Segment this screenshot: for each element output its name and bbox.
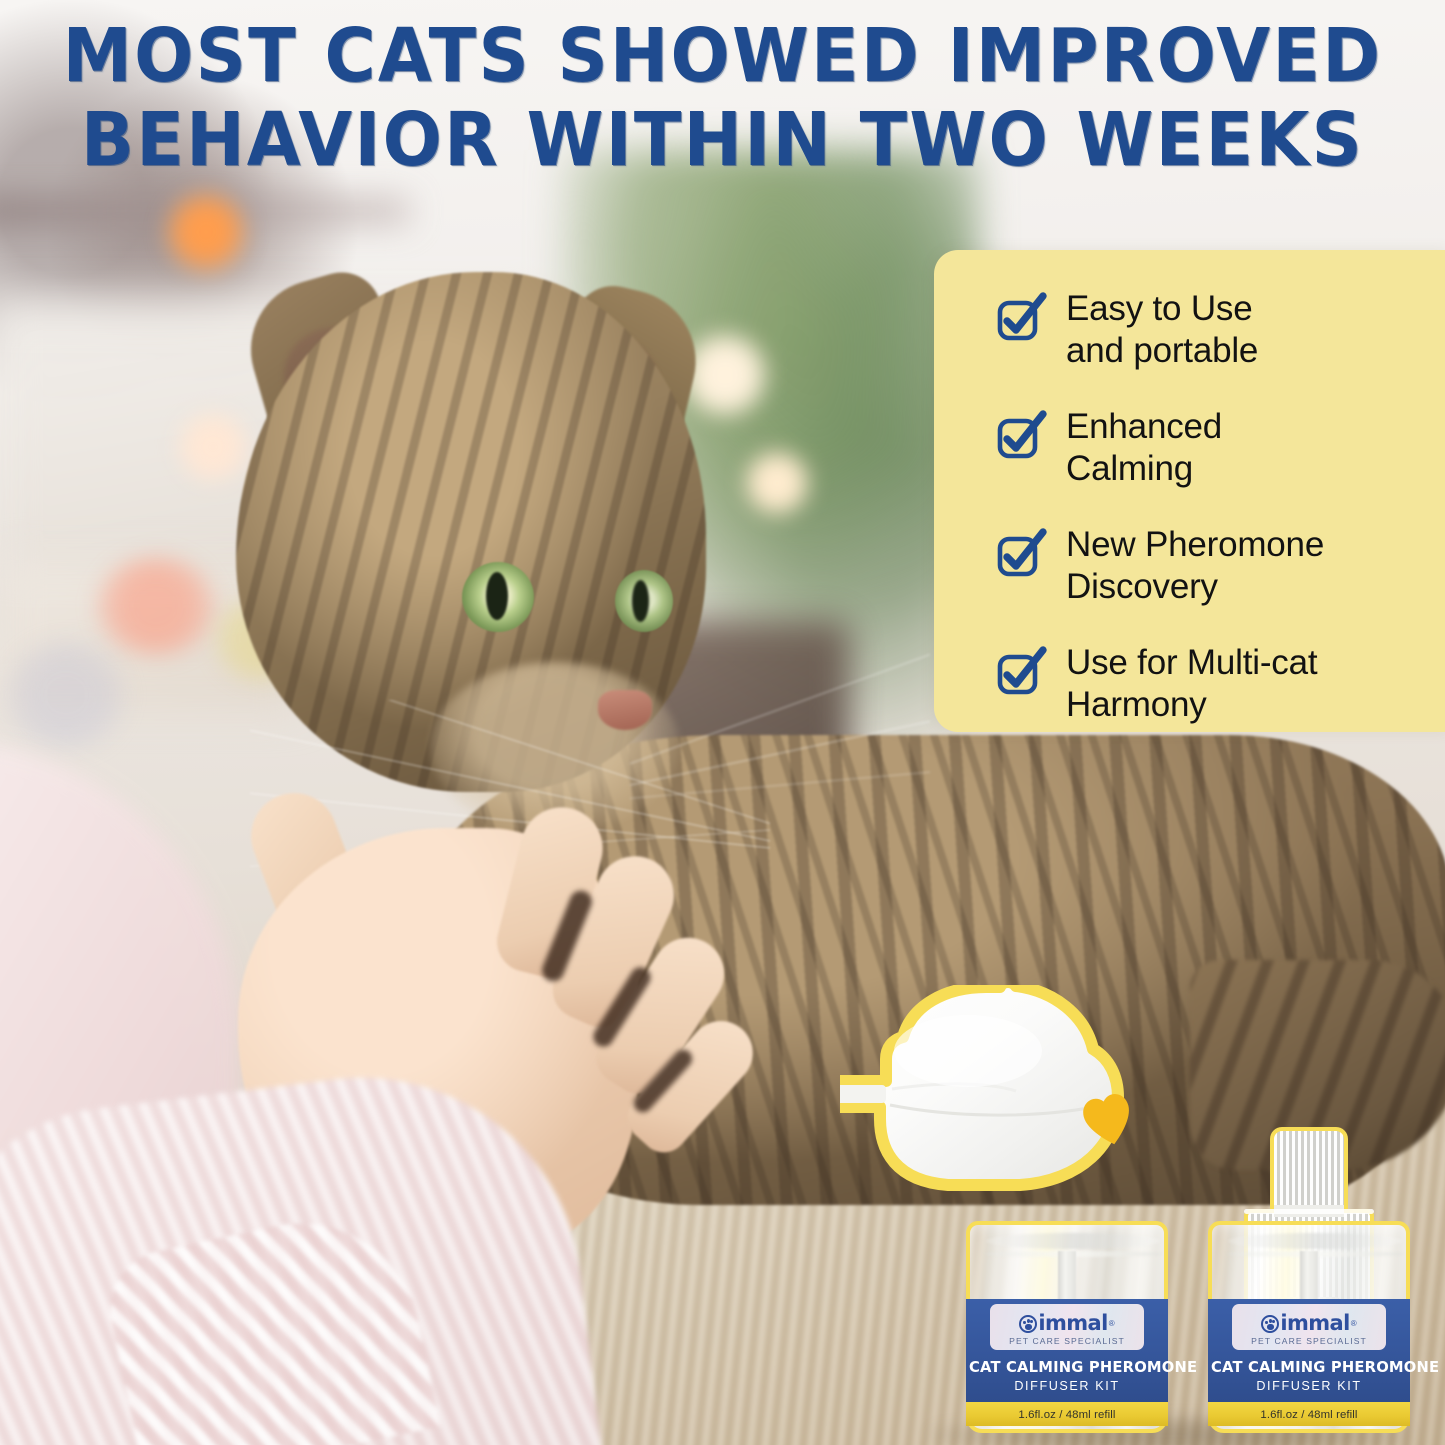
feature-item-easy-to-use: Easy to Use and portable xyxy=(996,288,1445,372)
bokeh-light xyxy=(164,190,248,274)
label-volume-strip: 1.6fl.oz / 48ml refill xyxy=(1208,1402,1410,1426)
label-title: CAT CALMING PHEROMONE xyxy=(1211,1358,1407,1376)
headline-line-1: MOST CATS SHOWED IMPROVED xyxy=(43,14,1401,98)
feature-item-new-pheromone-discovery: New Pheromone Discovery xyxy=(996,524,1445,608)
label-blue-band: immal ® PET CARE SPECIALIST CAT CALMING … xyxy=(966,1299,1168,1402)
registered-mark: ® xyxy=(1109,1320,1115,1328)
bokeh-light xyxy=(6,640,126,750)
checkbox-checked-icon xyxy=(996,412,1044,460)
brand-tagline: PET CARE SPECIALIST xyxy=(1208,1336,1410,1347)
registered-mark: ® xyxy=(1351,1320,1357,1328)
brand-name: immal xyxy=(1038,1313,1107,1334)
product-group: immal ® PET CARE SPECIALIST CAT CALMING … xyxy=(830,985,1445,1445)
bottle-label: immal ® PET CARE SPECIALIST CAT CALMING … xyxy=(966,1299,1168,1426)
feature-label: Enhanced Calming xyxy=(1066,406,1222,490)
poster-canvas: MOST CATS SHOWED IMPROVED BEHAVIOR WITHI… xyxy=(0,0,1445,1445)
bokeh-light xyxy=(96,556,216,656)
bottle-label: immal ® PET CARE SPECIALIST CAT CALMING … xyxy=(1208,1299,1410,1426)
brand-logo: immal ® PET CARE SPECIALIST xyxy=(966,1306,1168,1352)
label-volume: 1.6fl.oz / 48ml refill xyxy=(1018,1409,1115,1421)
label-title: CAT CALMING PHEROMONE xyxy=(969,1358,1165,1376)
label-subtitle: DIFFUSER KIT xyxy=(966,1379,1168,1393)
label-blue-band: immal ® PET CARE SPECIALIST CAT CALMING … xyxy=(1208,1299,1410,1402)
label-subtitle: DIFFUSER KIT xyxy=(1208,1379,1410,1393)
bokeh-light xyxy=(176,410,250,484)
cat-pupil-left xyxy=(486,572,508,620)
paw-print-icon xyxy=(1261,1315,1279,1333)
diffuser-bottle: immal ® PET CARE SPECIALIST CAT CALMING … xyxy=(958,1213,1176,1433)
paw-print-icon xyxy=(1019,1315,1037,1333)
page-title: MOST CATS SHOWED IMPROVED BEHAVIOR WITHI… xyxy=(43,14,1401,182)
headline-line-2: BEHAVIOR WITHIN TWO WEEKS xyxy=(43,98,1401,182)
bottle-top-ring xyxy=(1228,1233,1402,1249)
refill-bottle: immal ® PET CARE SPECIALIST CAT CALMING … xyxy=(1200,1105,1418,1433)
bottle-top-ring xyxy=(986,1233,1160,1249)
feature-item-multi-cat-harmony: Use for Multi-cat Harmony xyxy=(996,642,1445,726)
feature-list-panel: Easy to Use and portable Enhanced Calmin… xyxy=(934,250,1445,732)
brand-name: immal xyxy=(1280,1313,1349,1334)
checkbox-checked-icon xyxy=(996,294,1044,342)
label-volume-strip: 1.6fl.oz / 48ml refill xyxy=(966,1402,1168,1426)
checkbox-checked-icon xyxy=(996,530,1044,578)
bokeh-light xyxy=(742,448,812,518)
feature-label: Use for Multi-cat Harmony xyxy=(1066,642,1317,726)
brand-logo: immal ® PET CARE SPECIALIST xyxy=(1208,1306,1410,1352)
checkbox-checked-icon xyxy=(996,648,1044,696)
feature-label: Easy to Use and portable xyxy=(1066,288,1258,372)
cat-pupil-right xyxy=(632,580,649,622)
label-volume: 1.6fl.oz / 48ml refill xyxy=(1260,1409,1357,1421)
cat-whiskers-right xyxy=(630,640,930,840)
brand-tagline: PET CARE SPECIALIST xyxy=(966,1336,1168,1347)
feature-item-enhanced-calming: Enhanced Calming xyxy=(996,406,1445,490)
feature-label: New Pheromone Discovery xyxy=(1066,524,1324,608)
diffuser-device xyxy=(840,985,1180,1245)
cap-seam xyxy=(1244,1209,1374,1214)
